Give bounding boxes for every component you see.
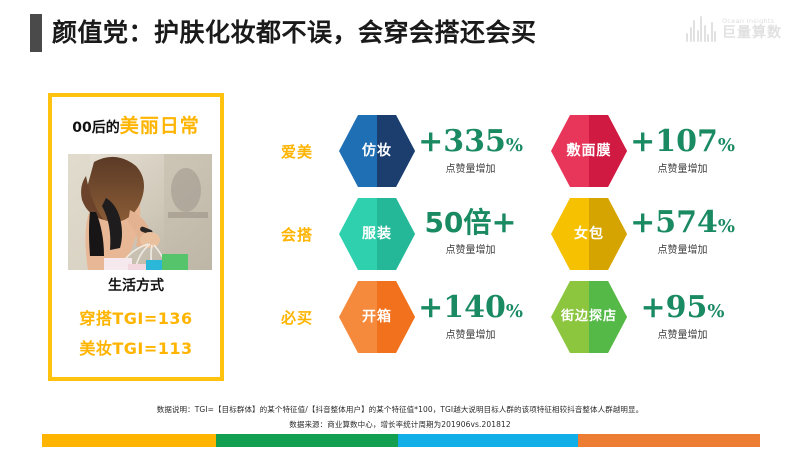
card-caption: 生活方式 <box>52 275 220 295</box>
stat-value-2-0: +140% <box>418 293 523 323</box>
stat-number-1-1: +574 <box>630 205 718 240</box>
hexagon-shape: 服装 <box>339 198 415 270</box>
lifestyle-photo <box>68 154 212 270</box>
lifestyle-photo-graphic <box>68 154 212 270</box>
stat-2-0: +140% 点赞量增加 <box>418 293 523 341</box>
hex-label-2-1: 街边探店 <box>551 281 627 353</box>
card-stat-1-text: 穿搭TGI=136 <box>79 309 192 328</box>
stat-1-1: +574% 点赞量增加 <box>630 208 735 256</box>
hex-cell-2-1[interactable]: 街边探店 <box>551 281 627 353</box>
hexagon-shape: 敷面膜 <box>551 115 627 187</box>
hexagon-shape: 街边探店 <box>551 281 627 353</box>
stat-sub-2-0: 点赞量增加 <box>418 326 523 341</box>
stat-sub-1-0: 点赞量增加 <box>418 241 523 256</box>
card-stat-2-text: 美妆TGI=113 <box>79 339 192 358</box>
hex-label-2-0: 开箱 <box>339 281 415 353</box>
stat-number-2-1: +95 <box>641 290 708 325</box>
hex-label-0-1: 敷面膜 <box>551 115 627 187</box>
bottom-bar-segment-0 <box>42 434 216 447</box>
stat-sub-0-0: 点赞量增加 <box>418 160 523 175</box>
stat-value-1-0: 50倍+ <box>418 208 523 238</box>
waveform-icon <box>686 16 716 42</box>
stat-unit-2-0: % <box>506 301 523 322</box>
footer-note: 数据说明：TGI=【目标群体】的某个特征值/【抖音整体用户】的某个特征值*100… <box>0 404 800 415</box>
stat-0-0: +335% 点赞量增加 <box>418 127 523 175</box>
stat-number-2-0: +140 <box>418 290 506 325</box>
stat-unit-2-1: % <box>707 301 724 322</box>
bottom-bar-segment-1 <box>216 434 398 447</box>
hex-cell-0-0[interactable]: 仿妆 <box>339 115 415 187</box>
hex-cell-1-0[interactable]: 服装 <box>339 198 415 270</box>
card-title: 00后的美丽日常 <box>52 111 220 138</box>
stat-2-1: +95% 点赞量增加 <box>630 293 735 341</box>
bottom-bar-segment-2 <box>398 434 578 447</box>
row-label-1: 会搭 <box>272 224 322 245</box>
hex-cell-1-1[interactable]: 女包 <box>551 198 627 270</box>
title-accent-bar <box>30 14 42 52</box>
brand-logo: Ocean Insights 巨量算数 <box>686 16 782 42</box>
stat-unit-1-0: + <box>491 205 516 240</box>
stat-unit-1-1: % <box>718 216 735 237</box>
hex-cell-0-1[interactable]: 敷面膜 <box>551 115 627 187</box>
footer-source: 数据来源：商业算数中心，增长率统计周期为201906vs.201812 <box>0 419 800 430</box>
hex-label-1-1: 女包 <box>551 198 627 270</box>
stat-unit-0-0: % <box>506 135 523 156</box>
stat-1-0: 50倍+ 点赞量增加 <box>418 208 523 256</box>
logo-cn-label: 巨量算数 <box>722 26 782 40</box>
page-title: 颜值党：护肤化妆都不误，会穿会搭还会买 <box>52 14 537 52</box>
row-label-2: 必买 <box>272 307 322 328</box>
stat-value-0-1: +107% <box>630 127 735 157</box>
stat-sub-0-1: 点赞量增加 <box>630 160 735 175</box>
stat-unit-0-1: % <box>718 135 735 156</box>
hexagon-shape: 女包 <box>551 198 627 270</box>
hexagon-shape: 开箱 <box>339 281 415 353</box>
stat-0-1: +107% 点赞量增加 <box>630 127 735 175</box>
card-title-prefix: 00后的 <box>72 120 119 136</box>
stat-value-1-1: +574% <box>630 208 735 238</box>
stat-value-0-0: +335% <box>418 127 523 157</box>
card-stat-1: 穿搭TGI=136 <box>52 305 220 329</box>
hex-label-0-0: 仿妆 <box>339 115 415 187</box>
hex-label-1-0: 服装 <box>339 198 415 270</box>
stat-number-1-0: 50倍 <box>424 206 491 239</box>
stat-number-0-0: +335 <box>418 124 506 159</box>
card-stat-2: 美妆TGI=113 <box>52 335 220 359</box>
stat-value-2-1: +95% <box>630 293 735 323</box>
profile-card: 00后的美丽日常 <box>48 93 224 381</box>
stat-sub-1-1: 点赞量增加 <box>630 241 735 256</box>
hexagon-shape: 仿妆 <box>339 115 415 187</box>
stat-sub-2-1: 点赞量增加 <box>630 326 735 341</box>
logo-text: Ocean Insights 巨量算数 <box>722 18 782 41</box>
slide-header: 颜值党：护肤化妆都不误，会穿会搭还会买 Ocean Insights 巨量算数 <box>0 0 800 72</box>
slide-root: 颜值党：护肤化妆都不误，会穿会搭还会买 Ocean Insights 巨量算数 … <box>0 0 800 450</box>
card-title-highlight: 美丽日常 <box>120 115 200 137</box>
bottom-bar-segment-3 <box>578 434 760 447</box>
stat-number-0-1: +107 <box>630 124 718 159</box>
row-label-0: 爱美 <box>272 141 322 162</box>
logo-en-label: Ocean Insights <box>722 18 782 25</box>
hex-cell-2-0[interactable]: 开箱 <box>339 281 415 353</box>
bottom-color-bar <box>42 434 760 447</box>
